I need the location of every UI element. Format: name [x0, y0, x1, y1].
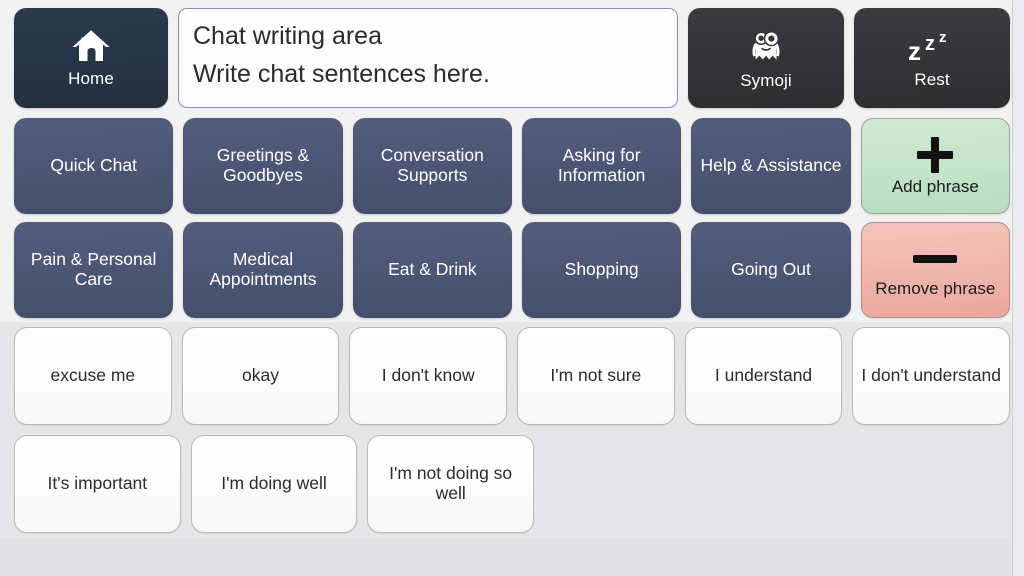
- phrase-its-important[interactable]: It's important: [14, 435, 181, 533]
- bottom-area: [0, 538, 1024, 576]
- category-label: Asking for Information: [528, 146, 675, 185]
- phrase-i-dont-know[interactable]: I don't know: [349, 327, 507, 425]
- add-phrase-button[interactable]: Add phrase: [861, 118, 1010, 214]
- phrase-im-not-sure[interactable]: I'm not sure: [517, 327, 675, 425]
- chat-line-1: Chat writing area: [193, 19, 663, 55]
- category-medical-appointments[interactable]: Medical Appointments: [183, 222, 342, 318]
- phrase-im-doing-well[interactable]: I'm doing well: [191, 435, 358, 533]
- sleep-zzz-icon: z z z: [904, 26, 960, 66]
- category-label: Eat & Drink: [388, 260, 477, 280]
- phrase-row-1: excuse me okay I don't know I'm not sure…: [0, 322, 1024, 430]
- category-label: Conversation Supports: [359, 146, 506, 185]
- category-conversation-supports[interactable]: Conversation Supports: [353, 118, 512, 214]
- category-shopping[interactable]: Shopping: [522, 222, 681, 318]
- phrase-label: okay: [242, 366, 279, 386]
- minus-icon: [913, 242, 957, 276]
- aac-communication-board: Home Chat writing area Write chat senten…: [0, 0, 1024, 576]
- phrase-im-not-doing-so-well[interactable]: I'm not doing so well: [367, 435, 534, 533]
- phrase-label: I understand: [715, 366, 812, 386]
- plus-icon: [915, 135, 955, 175]
- empty-slot: [544, 435, 693, 533]
- chat-writing-area[interactable]: Chat writing area Write chat sentences h…: [178, 8, 678, 108]
- rest-label: Rest: [914, 70, 949, 89]
- category-row-1: Quick Chat Greetings & Goodbyes Conversa…: [0, 114, 1024, 218]
- svg-text:z: z: [908, 36, 921, 66]
- phrase-label: I'm not doing so well: [376, 464, 525, 503]
- empty-slot: [861, 435, 1010, 533]
- vertical-scrollbar[interactable]: [1012, 0, 1024, 576]
- svg-text:z: z: [925, 33, 935, 55]
- home-icon: [71, 27, 111, 65]
- category-pain-personal-care[interactable]: Pain & Personal Care: [14, 222, 173, 318]
- category-greetings-goodbyes[interactable]: Greetings & Goodbyes: [183, 118, 342, 214]
- remove-phrase-button[interactable]: Remove phrase: [861, 222, 1010, 318]
- symoji-ghost-icon: [745, 25, 787, 67]
- remove-phrase-label: Remove phrase: [875, 279, 995, 298]
- phrase-label: I'm doing well: [221, 474, 326, 494]
- phrase-okay[interactable]: okay: [182, 327, 340, 425]
- category-label: Help & Assistance: [700, 156, 841, 176]
- chat-line-2: Write chat sentences here.: [193, 57, 663, 93]
- phrase-excuse-me[interactable]: excuse me: [14, 327, 172, 425]
- category-help-assistance[interactable]: Help & Assistance: [691, 118, 850, 214]
- empty-slot: [703, 435, 852, 533]
- category-label: Going Out: [731, 260, 811, 280]
- category-eat-drink[interactable]: Eat & Drink: [353, 222, 512, 318]
- phrase-label: excuse me: [51, 366, 136, 386]
- category-label: Greetings & Goodbyes: [189, 146, 336, 185]
- rest-button[interactable]: z z z Rest: [854, 8, 1010, 108]
- svg-text:z: z: [939, 29, 947, 46]
- category-quick-chat[interactable]: Quick Chat: [14, 118, 173, 214]
- category-going-out[interactable]: Going Out: [691, 222, 850, 318]
- phrase-row-2: It's important I'm doing well I'm not do…: [0, 430, 1024, 538]
- category-label: Pain & Personal Care: [20, 250, 167, 289]
- add-phrase-label: Add phrase: [892, 177, 979, 196]
- category-row-2: Pain & Personal Care Medical Appointment…: [0, 218, 1024, 322]
- category-label: Shopping: [565, 260, 639, 280]
- category-label: Medical Appointments: [189, 250, 336, 289]
- category-label: Quick Chat: [50, 156, 137, 176]
- phrase-label: I'm not sure: [550, 366, 641, 386]
- home-label: Home: [68, 69, 114, 88]
- symoji-label: Symoji: [740, 71, 792, 90]
- header-row: Home Chat writing area Write chat senten…: [0, 0, 1024, 114]
- phrase-i-understand[interactable]: I understand: [685, 327, 843, 425]
- phrase-label: I don't understand: [861, 366, 1001, 386]
- phrase-label: I don't know: [382, 366, 475, 386]
- phrase-label: It's important: [48, 474, 148, 494]
- phrase-i-dont-understand[interactable]: I don't understand: [852, 327, 1010, 425]
- home-button[interactable]: Home: [14, 8, 168, 108]
- symoji-button[interactable]: Symoji: [688, 8, 844, 108]
- category-asking-for-information[interactable]: Asking for Information: [522, 118, 681, 214]
